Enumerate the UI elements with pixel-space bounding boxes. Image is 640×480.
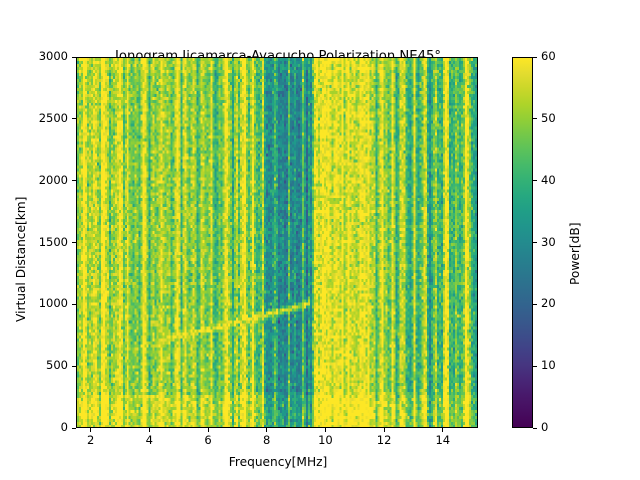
- x-tick-label: 2: [66, 433, 116, 447]
- colorbar-tick-mark: [533, 242, 537, 243]
- y-tick-mark: [72, 366, 76, 367]
- y-tick-mark: [72, 304, 76, 305]
- x-tick-mark: [149, 428, 150, 432]
- x-tick-mark: [384, 428, 385, 432]
- y-tick-mark: [72, 428, 76, 429]
- y-tick-label: 2000: [10, 173, 68, 187]
- x-tick-label: 14: [418, 433, 468, 447]
- colorbar: [512, 57, 533, 428]
- y-tick-label: 2500: [10, 111, 68, 125]
- x-tick-label: 6: [183, 433, 233, 447]
- colorbar-tick-mark: [533, 304, 537, 305]
- y-tick-mark: [72, 242, 76, 243]
- y-tick-label: 500: [10, 358, 68, 372]
- colorbar-tick-mark: [533, 428, 537, 429]
- colorbar-tick-mark: [533, 180, 537, 181]
- x-axis-label: Frequency[MHz]: [0, 455, 556, 469]
- y-tick-mark: [72, 57, 76, 58]
- x-tick-label: 8: [242, 433, 292, 447]
- ionogram-heatmap: [77, 58, 477, 427]
- x-tick-mark: [266, 428, 267, 432]
- x-tick-label: 4: [124, 433, 174, 447]
- x-tick-label: 12: [359, 433, 409, 447]
- x-tick-mark: [90, 428, 91, 432]
- x-tick-mark: [208, 428, 209, 432]
- colorbar-gradient: [513, 58, 532, 427]
- colorbar-tick-mark: [533, 118, 537, 119]
- x-tick-mark: [325, 428, 326, 432]
- colorbar-tick-label: 20: [541, 296, 556, 310]
- colorbar-label: Power[dB]: [568, 223, 582, 285]
- colorbar-tick-label: 40: [541, 173, 556, 187]
- y-tick-mark: [72, 118, 76, 119]
- x-tick-label: 10: [300, 433, 350, 447]
- y-tick-mark: [72, 180, 76, 181]
- colorbar-tick-label: 50: [541, 111, 556, 125]
- colorbar-tick-label: 60: [541, 49, 556, 63]
- colorbar-tick-label: 10: [541, 358, 556, 372]
- y-tick-label: 3000: [10, 49, 68, 63]
- colorbar-tick-label: 30: [541, 235, 556, 249]
- colorbar-tick-mark: [533, 57, 537, 58]
- colorbar-tick-label: 0: [541, 420, 548, 434]
- y-axis-label: Virtual Distance[km]: [14, 197, 28, 322]
- y-tick-label: 0: [10, 420, 68, 434]
- ionogram-plot-area: [76, 57, 478, 428]
- x-tick-mark: [442, 428, 443, 432]
- colorbar-tick-mark: [533, 366, 537, 367]
